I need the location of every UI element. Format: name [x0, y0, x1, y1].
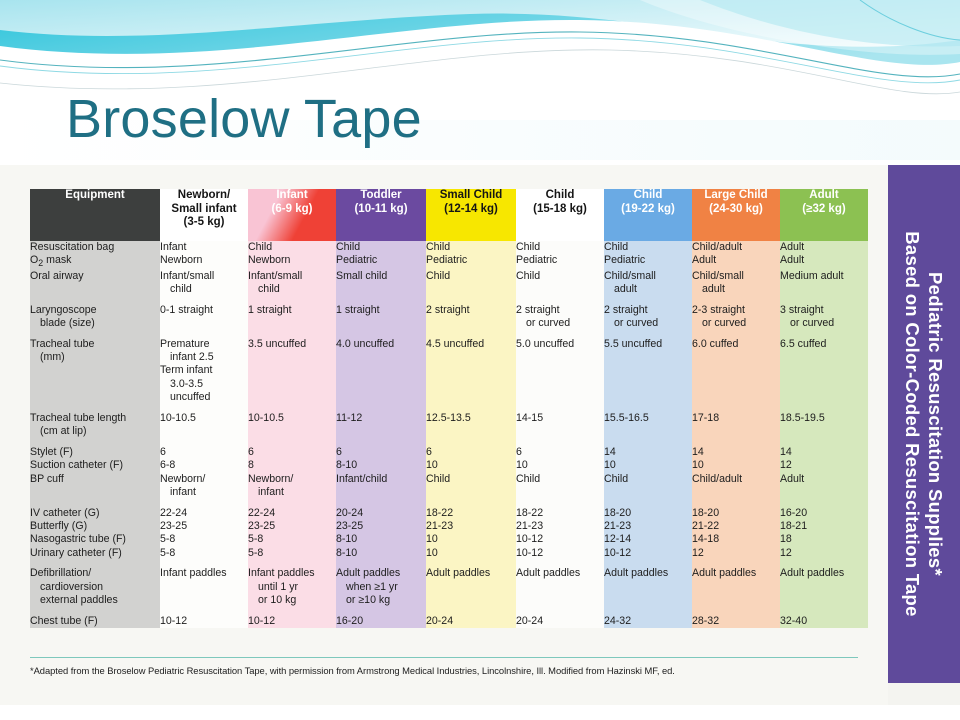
- spacer-cell: [604, 500, 692, 507]
- spacer-cell: [426, 560, 516, 567]
- spacer-cell: [426, 500, 516, 507]
- column-header-label: Child: [516, 189, 604, 203]
- spacer-cell: [692, 500, 780, 507]
- column-header-toddler: Toddler (10-11 kg): [336, 189, 426, 241]
- column-header-newborn: Newborn/Small infant (3-5 kg): [160, 189, 248, 241]
- table-cell: 6: [160, 446, 248, 459]
- row-label-cell: Tracheal tube length(cm at lip): [30, 412, 160, 439]
- table-cell: 12: [692, 547, 780, 560]
- table-cell: Child: [426, 473, 516, 500]
- table-row: Chest tube (F)10-1210-1216-2020-2420-242…: [30, 615, 868, 628]
- table-cell: 10-12: [604, 547, 692, 560]
- chart-canvas: Equipment Newborn/Small infant (3-5 kg) …: [0, 165, 888, 705]
- table-row: Butterfly (G)23-2523-2523-2521-2321-2321…: [30, 520, 868, 533]
- spacer-cell: [604, 439, 692, 446]
- spacer-cell: [30, 297, 160, 304]
- row-label-cell: Oral airway: [30, 270, 160, 297]
- table-cell: Child: [516, 241, 604, 254]
- column-header-label: Small Child: [426, 189, 516, 203]
- spacer-cell: [426, 608, 516, 615]
- table-cell: 5.0 uncuffed: [516, 338, 604, 405]
- table-cell: 4.5 uncuffed: [426, 338, 516, 405]
- table-cell: Child: [248, 241, 336, 254]
- table-cell: 10: [426, 459, 516, 472]
- table-cell: 6: [516, 446, 604, 459]
- table-cell: 12: [780, 459, 868, 472]
- spacer-cell: [160, 439, 248, 446]
- table-cell: 23-25: [160, 520, 248, 533]
- table-cell: Newborn: [160, 254, 248, 269]
- table-cell: 0-1 straight: [160, 304, 248, 331]
- spacer-cell: [780, 439, 868, 446]
- table-cell: Child: [426, 241, 516, 254]
- spacer-cell: [426, 439, 516, 446]
- column-header-weight: (15-18 kg): [516, 203, 604, 217]
- table-cell: Child/smalladult: [604, 270, 692, 297]
- table-cell: 10: [516, 459, 604, 472]
- table-cell: Child/adult: [692, 241, 780, 254]
- table-cell: 23-25: [248, 520, 336, 533]
- table-cell: 1 straight: [248, 304, 336, 331]
- table-cell: Newborn: [248, 254, 336, 269]
- table-row: IV catheter (G)22-2422-2420-2418-2218-22…: [30, 507, 868, 520]
- spacer-cell: [30, 500, 160, 507]
- table-cell: Pediatric: [516, 254, 604, 269]
- spacer-cell: [160, 560, 248, 567]
- table-cell: 28-32: [692, 615, 780, 628]
- table-cell: Small child: [336, 270, 426, 297]
- spacer-cell: [780, 405, 868, 412]
- table-cell: 21-23: [426, 520, 516, 533]
- table-row: Nasogastric tube (F)5-85-88-101010-1212-…: [30, 533, 868, 546]
- table-cell: 5.5 uncuffed: [604, 338, 692, 405]
- spacer-cell: [336, 297, 426, 304]
- table-cell: 21-23: [604, 520, 692, 533]
- table-row: Laryngoscopeblade (size)0-1 straight1 st…: [30, 304, 868, 331]
- spacer-cell: [248, 608, 336, 615]
- table-cell: Child: [516, 473, 604, 500]
- table-row-spacer: [30, 297, 868, 304]
- column-header-small-child: Small Child (12-14 kg): [426, 189, 516, 241]
- table-cell: 14-15: [516, 412, 604, 439]
- table-cell: 10-12: [516, 533, 604, 546]
- table-cell: Adult: [780, 254, 868, 269]
- table-row: Tracheal tube(mm)Prematureinfant 2.5Term…: [30, 338, 868, 405]
- table-cell: 14: [780, 446, 868, 459]
- table-cell: 10: [426, 533, 516, 546]
- table-cell: Adult: [780, 241, 868, 254]
- spacer-cell: [692, 608, 780, 615]
- spacer-cell: [604, 297, 692, 304]
- figure-footnote: *Adapted from the Broselow Pediatric Res…: [30, 665, 858, 676]
- spacer-cell: [604, 331, 692, 338]
- row-label-cell: Resuscitation bag: [30, 241, 160, 254]
- spacer-cell: [780, 560, 868, 567]
- table-cell: Child/smalladult: [692, 270, 780, 297]
- table-cell: Pediatric: [604, 254, 692, 269]
- spacer-cell: [516, 560, 604, 567]
- table-cell: 14-18: [692, 533, 780, 546]
- page-title: Broselow Tape: [66, 88, 422, 150]
- resuscitation-supplies-table: Equipment Newborn/Small infant (3-5 kg) …: [30, 189, 868, 628]
- spacer-cell: [30, 405, 160, 412]
- table-header: Equipment Newborn/Small infant (3-5 kg) …: [30, 189, 868, 241]
- table-cell: 3 straightor curved: [780, 304, 868, 331]
- table-row-spacer: [30, 439, 868, 446]
- spacer-cell: [248, 297, 336, 304]
- table-cell: 14: [604, 446, 692, 459]
- spacer-cell: [336, 560, 426, 567]
- column-header-label: Child: [604, 189, 692, 203]
- table-cell: 10: [426, 547, 516, 560]
- table-cell: 4.0 uncuffed: [336, 338, 426, 405]
- spacer-cell: [426, 297, 516, 304]
- table-cell: Child: [336, 241, 426, 254]
- column-header-label: Newborn/Small infant: [160, 189, 248, 216]
- table-body: Resuscitation bagInfantChildChildChildCh…: [30, 241, 868, 628]
- table-cell: 6: [336, 446, 426, 459]
- spacer-cell: [160, 500, 248, 507]
- table-cell: Adult paddles: [426, 567, 516, 607]
- table-cell: 10-12: [248, 615, 336, 628]
- table-row: Suction catheter (F)6-888-101010101012: [30, 459, 868, 472]
- table-cell: Pediatric: [336, 254, 426, 269]
- table-cell: 6.5 cuffed: [780, 338, 868, 405]
- table-cell: Newborn/infant: [160, 473, 248, 500]
- table-cell: Infant: [160, 241, 248, 254]
- table-cell: 18-22: [426, 507, 516, 520]
- table-row: Urinary catheter (F)5-85-88-101010-1210-…: [30, 547, 868, 560]
- spacer-cell: [30, 608, 160, 615]
- table-row: Resuscitation bagInfantChildChildChildCh…: [30, 241, 868, 254]
- spacer-cell: [780, 331, 868, 338]
- spacer-cell: [336, 500, 426, 507]
- spacer-cell: [248, 500, 336, 507]
- spacer-cell: [692, 405, 780, 412]
- spacer-cell: [780, 500, 868, 507]
- spacer-cell: [336, 405, 426, 412]
- spacer-cell: [516, 297, 604, 304]
- table-cell: Adult paddles: [516, 567, 604, 607]
- spacer-cell: [604, 560, 692, 567]
- spacer-cell: [248, 560, 336, 567]
- table-cell: 22-24: [160, 507, 248, 520]
- spacer-cell: [780, 608, 868, 615]
- column-header-label: Large Child: [692, 189, 780, 203]
- table-cell: 16-20: [336, 615, 426, 628]
- table-row-spacer: [30, 331, 868, 338]
- row-label-cell: IV catheter (G): [30, 507, 160, 520]
- table-cell: Adult: [692, 254, 780, 269]
- slide: Broselow Tape Eq: [0, 0, 960, 720]
- table-cell: Adult paddleswhen ≥1 yror ≥10 kg: [336, 567, 426, 607]
- row-label-cell: Tracheal tube(mm): [30, 338, 160, 405]
- table-row-spacer: [30, 405, 868, 412]
- table-cell: Infant paddlesuntil 1 yror 10 kg: [248, 567, 336, 607]
- table-cell: 10: [692, 459, 780, 472]
- table-row: BP cuffNewborn/infantNewborn/infantInfan…: [30, 473, 868, 500]
- spacer-cell: [516, 608, 604, 615]
- row-label-cell: Suction catheter (F): [30, 459, 160, 472]
- broselow-chart-figure: Equipment Newborn/Small infant (3-5 kg) …: [0, 165, 960, 705]
- table-cell: Adult paddles: [692, 567, 780, 607]
- spacer-cell: [248, 331, 336, 338]
- table-cell: 32-40: [780, 615, 868, 628]
- table-row: Defibrillation/cardioversionexternal pad…: [30, 567, 868, 607]
- table-cell: 5-8: [248, 547, 336, 560]
- table-row-spacer: [30, 560, 868, 567]
- table-cell: Adult paddles: [780, 567, 868, 607]
- column-header-weight: (10-11 kg): [336, 203, 426, 217]
- spacer-cell: [160, 608, 248, 615]
- table-row: O2 maskNewbornNewbornPediatricPediatricP…: [30, 254, 868, 269]
- spacer-cell: [604, 405, 692, 412]
- table-cell: Newborn/infant: [248, 473, 336, 500]
- spacer-cell: [692, 560, 780, 567]
- table-cell: 2 straightor curved: [516, 304, 604, 331]
- spacer-cell: [426, 405, 516, 412]
- table-cell: 20-24: [516, 615, 604, 628]
- table-cell: Adult paddles: [604, 567, 692, 607]
- footnote-divider: [30, 657, 858, 658]
- table-cell: 2-3 straightor curved: [692, 304, 780, 331]
- table-cell: 14: [692, 446, 780, 459]
- table-cell: 22-24: [248, 507, 336, 520]
- table-cell: Child: [516, 270, 604, 297]
- column-header-label: Infant: [248, 189, 336, 203]
- table-cell: 8-10: [336, 547, 426, 560]
- table-cell: 2 straight: [426, 304, 516, 331]
- table-cell: 12: [780, 547, 868, 560]
- table-cell: 11-12: [336, 412, 426, 439]
- column-header-weight: (6-9 kg): [248, 203, 336, 217]
- table-cell: 6.0 cuffed: [692, 338, 780, 405]
- row-label-cell: Chest tube (F): [30, 615, 160, 628]
- table-cell: 18-20: [604, 507, 692, 520]
- row-label-cell: Butterfly (G): [30, 520, 160, 533]
- spacer-cell: [30, 331, 160, 338]
- table-cell: 6-8: [160, 459, 248, 472]
- row-label-cell: Stylet (F): [30, 446, 160, 459]
- table-cell: 17-18: [692, 412, 780, 439]
- table-cell: 3.5 uncuffed: [248, 338, 336, 405]
- spacer-cell: [336, 331, 426, 338]
- table-cell: Infant/smallchild: [160, 270, 248, 297]
- row-label-cell: Defibrillation/cardioversionexternal pad…: [30, 567, 160, 607]
- table-cell: Pediatric: [426, 254, 516, 269]
- spacer-cell: [30, 439, 160, 446]
- spacer-cell: [516, 439, 604, 446]
- table-cell: 24-32: [604, 615, 692, 628]
- table-cell: 10: [604, 459, 692, 472]
- spacer-cell: [692, 439, 780, 446]
- row-label-cell: Urinary catheter (F): [30, 547, 160, 560]
- table-cell: 10-10.5: [248, 412, 336, 439]
- table-cell: 5-8: [248, 533, 336, 546]
- table-cell: Child/adult: [692, 473, 780, 500]
- table-cell: 8: [248, 459, 336, 472]
- vertical-title-banner: Pediatric Resuscitation Supplies* Based …: [888, 165, 960, 683]
- table-cell: 8-10: [336, 459, 426, 472]
- table-cell: 20-24: [426, 615, 516, 628]
- column-header-infant: Infant (6-9 kg): [248, 189, 336, 241]
- column-header-weight: (12-14 kg): [426, 203, 516, 217]
- column-header-large-child: Large Child (24-30 kg): [692, 189, 780, 241]
- column-header-label: Equipment: [30, 189, 160, 203]
- row-label-cell: Nasogastric tube (F): [30, 533, 160, 546]
- spacer-cell: [336, 608, 426, 615]
- table-cell: 2 straightor curved: [604, 304, 692, 331]
- column-header-label: Toddler: [336, 189, 426, 203]
- table-cell: 1 straight: [336, 304, 426, 331]
- table-cell: Child: [426, 270, 516, 297]
- table-cell: 5-8: [160, 547, 248, 560]
- table-cell: 6: [248, 446, 336, 459]
- spacer-cell: [160, 405, 248, 412]
- table-cell: 12.5-13.5: [426, 412, 516, 439]
- spacer-cell: [780, 297, 868, 304]
- table-cell: 21-22: [692, 520, 780, 533]
- spacer-cell: [516, 405, 604, 412]
- table-cell: 18-20: [692, 507, 780, 520]
- spacer-cell: [336, 439, 426, 446]
- table-cell: Medium adult: [780, 270, 868, 297]
- column-header-label: Adult: [780, 189, 868, 203]
- column-header-child-19: Child (19-22 kg): [604, 189, 692, 241]
- column-header-weight: (3-5 kg): [160, 216, 248, 230]
- spacer-cell: [30, 560, 160, 567]
- spacer-cell: [248, 405, 336, 412]
- row-label-cell: O2 mask: [30, 254, 160, 269]
- vertical-title-text: Pediatric Resuscitation Supplies* Based …: [901, 169, 947, 679]
- table-cell: 10-12: [160, 615, 248, 628]
- column-header-equipment: Equipment: [30, 189, 160, 241]
- column-header-adult: Adult (≥32 kg): [780, 189, 868, 241]
- column-header-weight: (24-30 kg): [692, 203, 780, 217]
- column-header-child: Child (15-18 kg): [516, 189, 604, 241]
- spacer-cell: [516, 500, 604, 507]
- table-cell: Infant paddles: [160, 567, 248, 607]
- table-cell: 10-10.5: [160, 412, 248, 439]
- table-cell: 20-24: [336, 507, 426, 520]
- table-cell: Infant/child: [336, 473, 426, 500]
- table-cell: 18.5-19.5: [780, 412, 868, 439]
- table-cell: 18: [780, 533, 868, 546]
- table-cell: Adult: [780, 473, 868, 500]
- table-cell: 6: [426, 446, 516, 459]
- table-cell: 15.5-16.5: [604, 412, 692, 439]
- table-cell: 8-10: [336, 533, 426, 546]
- row-label-cell: BP cuff: [30, 473, 160, 500]
- table-row: Tracheal tube length(cm at lip)10-10.510…: [30, 412, 868, 439]
- spacer-cell: [248, 439, 336, 446]
- table-cell: Prematureinfant 2.5Term infant3.0-3.5unc…: [160, 338, 248, 405]
- table-row: Stylet (F)66666141414: [30, 446, 868, 459]
- spacer-cell: [426, 331, 516, 338]
- table-row-spacer: [30, 608, 868, 615]
- table-cell: Infant/smallchild: [248, 270, 336, 297]
- table-cell: 18-21: [780, 520, 868, 533]
- table-cell: 12-14: [604, 533, 692, 546]
- table-cell: 16-20: [780, 507, 868, 520]
- vertical-title-line2: Based on Color-Coded Resuscitation Tape: [902, 231, 923, 617]
- column-header-weight: (19-22 kg): [604, 203, 692, 217]
- column-header-weight: (≥32 kg): [780, 203, 868, 217]
- spacer-cell: [692, 331, 780, 338]
- table-cell: 18-22: [516, 507, 604, 520]
- spacer-cell: [604, 608, 692, 615]
- spacer-cell: [160, 331, 248, 338]
- table-cell: 21-23: [516, 520, 604, 533]
- table-row-spacer: [30, 500, 868, 507]
- spacer-cell: [516, 331, 604, 338]
- table-cell: 23-25: [336, 520, 426, 533]
- row-label-cell: Laryngoscopeblade (size): [30, 304, 160, 331]
- vertical-title-line1: Pediatric Resuscitation Supplies*: [925, 272, 946, 576]
- table-cell: 5-8: [160, 533, 248, 546]
- table-cell: Child: [604, 241, 692, 254]
- table-cell: Child: [604, 473, 692, 500]
- spacer-cell: [692, 297, 780, 304]
- table-cell: 10-12: [516, 547, 604, 560]
- table-row: Oral airwayInfant/smallchildInfant/small…: [30, 270, 868, 297]
- spacer-cell: [160, 297, 248, 304]
- table-header-row: Equipment Newborn/Small infant (3-5 kg) …: [30, 189, 868, 241]
